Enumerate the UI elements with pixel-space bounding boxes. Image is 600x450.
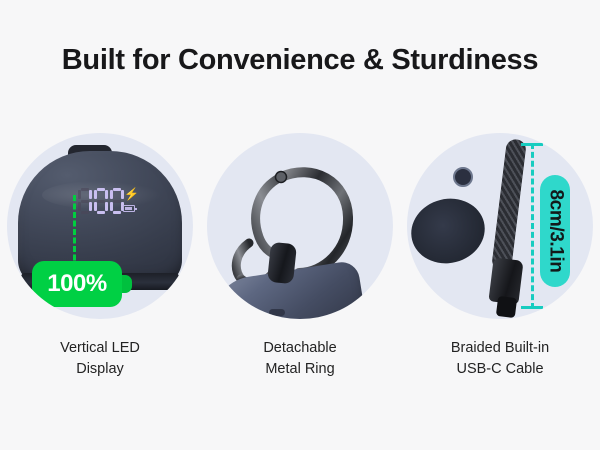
usb-c-tip [496,296,517,318]
marketing-image: Built for Convenience & Sturdiness [0,0,600,450]
panel-caption: Braided Built-in USB-C Cable [400,338,600,380]
ring-strap-loop [267,242,297,284]
led-digit-3 [110,188,124,214]
cable-length-label: 8cm/3.1in [544,189,566,272]
device-indicator-slot [269,309,285,316]
callout-dashed-line [73,195,76,269]
battery-full-icon [123,205,135,212]
led-display: ⚡ [78,188,124,214]
feature-panels: ⚡ 100% Vertical LED Display [0,133,600,403]
feature-panel-vertical-led-display: ⚡ 100% Vertical LED Display [0,133,200,403]
caption-line-2: Display [0,359,200,380]
device-button-icon [453,167,473,187]
caption-line-1: Detachable [200,338,400,359]
battery-percent-badge: 100% [32,261,122,307]
caption-line-1: Vertical LED [0,338,200,359]
panel-caption: Detachable Metal Ring [200,338,400,380]
feature-panel-detachable-metal-ring: Detachable Metal Ring [200,133,400,403]
feature-panel-braided-usb-c-cable: 8cm/3.1in Braided Built-in USB-C Cable [400,133,600,403]
cable-length-badge: 8cm/3.1in [540,175,570,287]
led-digit-2 [94,188,108,214]
panel-circle-backdrop: 8cm/3.1in [407,133,593,319]
caption-line-1: Braided Built-in [400,338,600,359]
caption-line-2: USB-C Cable [400,359,600,380]
page-title: Built for Convenience & Sturdiness [0,44,600,77]
measure-cap-bottom [521,306,543,309]
measurement-dashed-line [531,143,534,309]
braided-cable [491,138,527,271]
panel-circle-backdrop [207,133,393,319]
led-digit-1 [78,188,92,214]
panel-caption: Vertical LED Display [0,338,200,380]
panel-circle-backdrop: ⚡ 100% [7,133,193,319]
lightning-bolt-icon: ⚡ [124,188,133,200]
caption-line-2: Metal Ring [200,359,400,380]
